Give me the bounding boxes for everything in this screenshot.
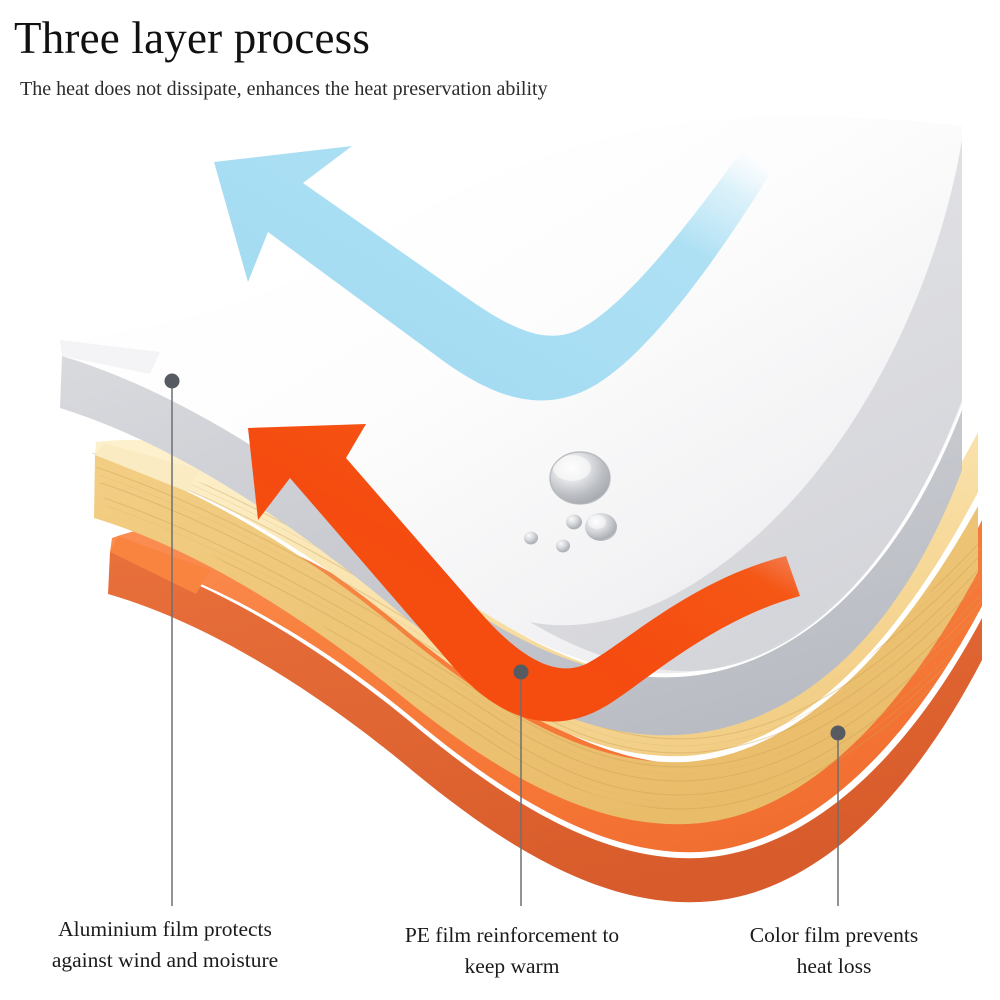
caption-line-2: heat loss xyxy=(700,951,968,982)
caption-aluminium-film: Aluminium film protects against wind and… xyxy=(6,914,324,976)
callout-dot[interactable] xyxy=(831,726,846,741)
caption-pe-film: PE film reinforcement to keep warm xyxy=(362,920,662,982)
infographic-poster: Three layer process The heat does not di… xyxy=(0,0,1000,1000)
callout-dot[interactable] xyxy=(165,374,180,389)
layer-aluminium-film xyxy=(60,116,962,735)
callout-dot[interactable] xyxy=(514,665,529,680)
droplet-small-c xyxy=(556,540,570,553)
droplet-medium-highlight xyxy=(588,515,606,529)
droplet-small-a xyxy=(566,515,582,530)
caption-color-film: Color film prevents heat loss xyxy=(700,920,968,982)
caption-line-1: PE film reinforcement to xyxy=(362,920,662,951)
caption-line-2: against wind and moisture xyxy=(6,945,324,976)
caption-line-1: Color film prevents xyxy=(700,920,968,951)
three-layer-illustration xyxy=(0,0,1000,1000)
callout-captions: Aluminium film protects against wind and… xyxy=(0,906,1000,1000)
droplet-small-b xyxy=(524,532,538,545)
caption-line-1: Aluminium film protects xyxy=(6,914,324,945)
caption-line-2: keep warm xyxy=(362,951,662,982)
